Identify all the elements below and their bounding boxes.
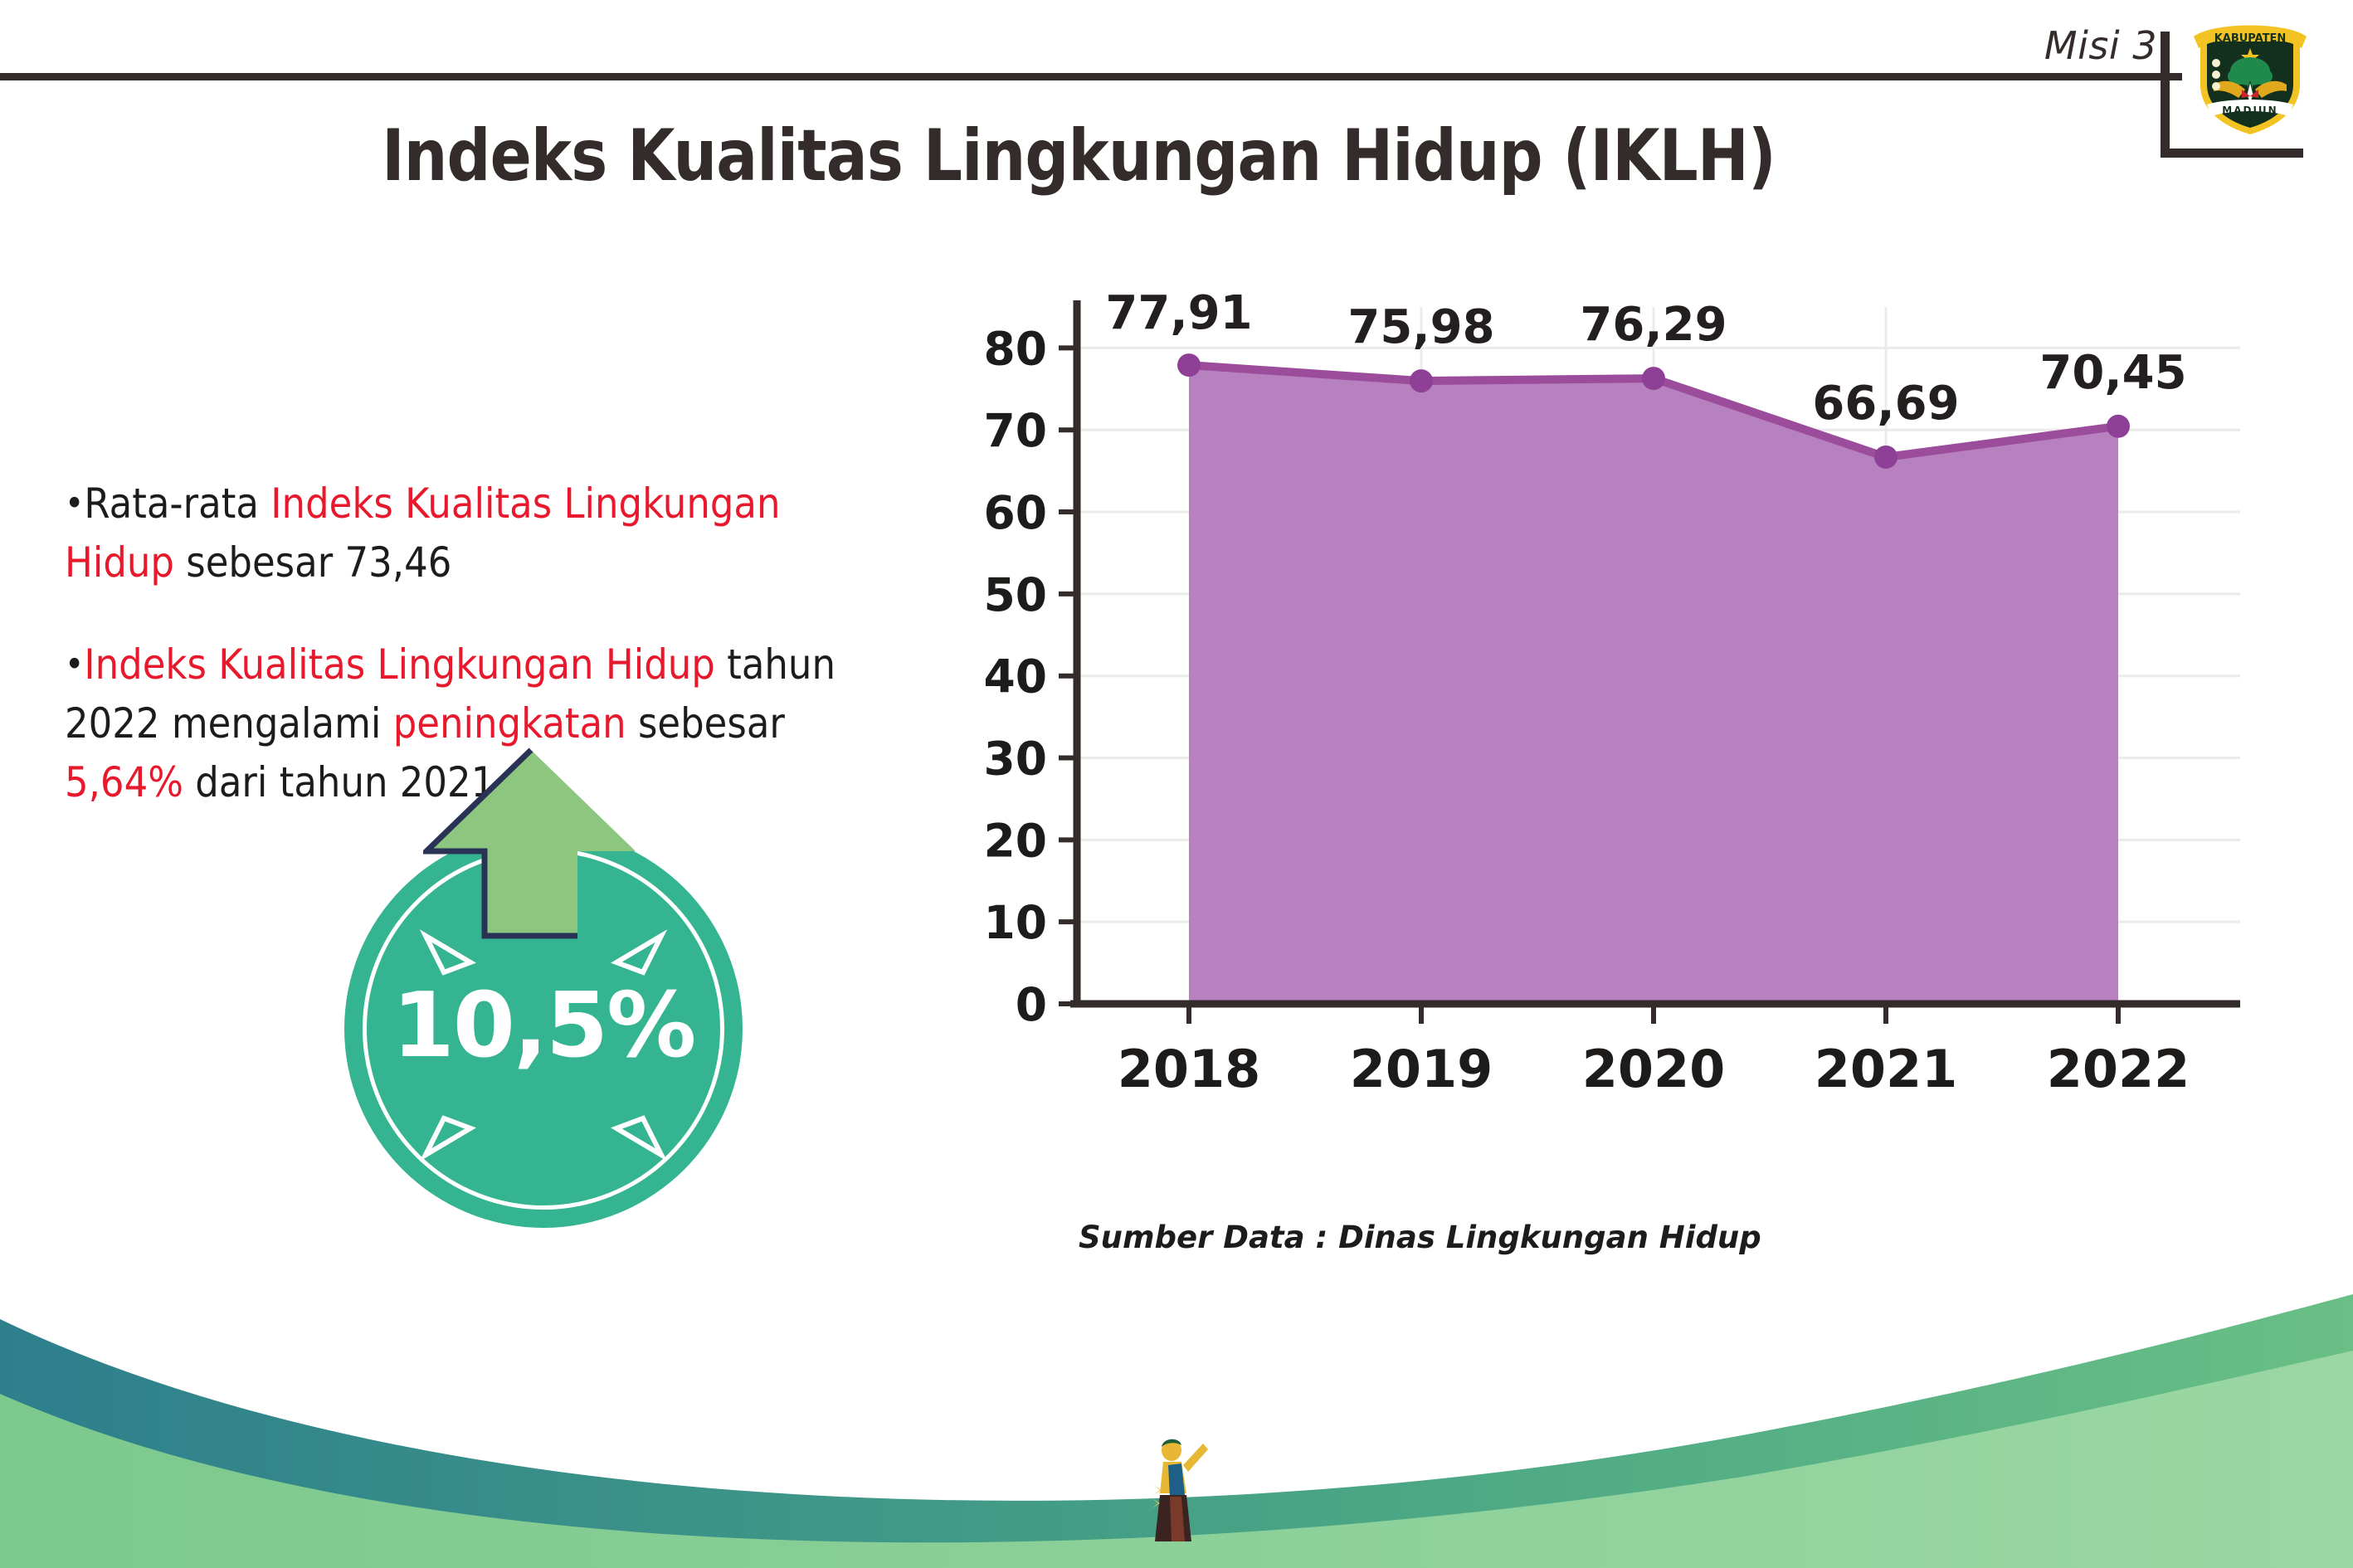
- y-tick-label: 40: [983, 650, 1047, 704]
- crest-top-text: KABUPATEN: [2214, 32, 2287, 45]
- x-tick-label: 2022: [2047, 1039, 2190, 1099]
- infographic-page: Misi 3 KABUPATEN MADIUN Indeks Kualitas …: [0, 0, 2353, 1568]
- crest-bracket-vertical: [2161, 32, 2170, 158]
- y-tick-label: 70: [983, 404, 1047, 457]
- chart-canvas: 01020304050607080 20182019202020212022 7…: [962, 290, 2257, 1170]
- bullet-text-segment: sebesar: [626, 699, 785, 747]
- x-tick-label: 2021: [1815, 1039, 1958, 1099]
- bullet-item: •Rata-rata Indeks Kualitas Lingkungan Hi…: [65, 475, 841, 592]
- y-tick-label: 10: [983, 896, 1047, 949]
- data-value-label: 77,91: [1105, 290, 1252, 340]
- y-tick-label: 60: [983, 486, 1047, 539]
- chart-x-tick-labels: 20182019202020212022: [1118, 1039, 2190, 1099]
- area-fill-path: [1189, 365, 2118, 1004]
- kabupaten-madiun-crest-icon: KABUPATEN MADIUN: [2189, 12, 2312, 138]
- iklh-area-chart: 01020304050607080 20182019202020212022 7…: [962, 290, 2257, 1170]
- crest-bottom-text: MADIUN: [2222, 105, 2277, 116]
- y-tick-label: 20: [983, 814, 1047, 867]
- x-tick-label: 2018: [1118, 1039, 1261, 1099]
- data-value-label: 76,29: [1580, 298, 1727, 352]
- bullet-marker-icon: •: [65, 643, 84, 685]
- crest-bracket-horizontal: [2161, 149, 2303, 158]
- chart-area-fill: [1189, 365, 2118, 1004]
- badge-value-text: 10,5%: [344, 974, 743, 1078]
- chart-y-tick-labels: 01020304050607080: [983, 322, 1047, 1031]
- data-point-marker: [1410, 369, 1433, 392]
- data-point-marker: [2107, 415, 2130, 438]
- x-tick-label: 2019: [1350, 1039, 1493, 1099]
- data-point-marker: [1642, 367, 1665, 390]
- bullet-text-segment: 5,64%: [65, 758, 183, 806]
- y-tick-label: 30: [983, 733, 1047, 786]
- data-value-label: 75,98: [1347, 300, 1494, 354]
- bullet-marker-icon: •: [65, 482, 84, 524]
- y-tick-label: 80: [983, 322, 1047, 375]
- arrow-up-icon: [423, 747, 639, 942]
- y-tick-label: 0: [1016, 978, 1047, 1031]
- y-tick-label: 50: [983, 568, 1047, 621]
- bullet-text-segment: peningkatan: [393, 699, 626, 747]
- x-tick-label: 2020: [1582, 1039, 1726, 1099]
- page-title: Indeks Kualitas Lingkungan Hidup (IKLH): [151, 114, 2006, 197]
- misi-label: Misi 3: [2016, 23, 2157, 68]
- data-point-marker: [1177, 353, 1201, 377]
- growth-badge: 10,5%: [328, 747, 759, 1195]
- data-value-label: 70,45: [2039, 346, 2186, 400]
- bullet-text-segment: Rata-rata: [84, 480, 270, 528]
- bullet-text-segment: Indeks Kualitas Lingkungan Hidup: [84, 640, 715, 689]
- header-divider-rule: [0, 73, 2182, 80]
- bullet-text-segment: sebesar 73,46: [174, 538, 451, 587]
- data-point-marker: [1874, 446, 1898, 469]
- chart-source-note: Sumber Data : Dinas Lingkungan Hidup: [1079, 1220, 1761, 1255]
- statistician-mascot-icon: [1143, 1435, 1218, 1551]
- data-value-label: 66,69: [1812, 377, 1959, 431]
